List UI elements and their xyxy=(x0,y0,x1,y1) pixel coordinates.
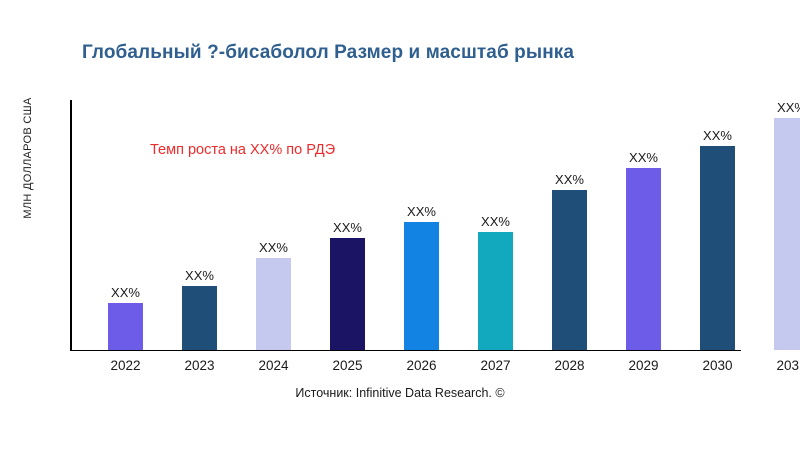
bar-2031[interactable] xyxy=(774,118,800,350)
bar-group[interactable]: XX% xyxy=(182,264,217,350)
bar-2023[interactable] xyxy=(182,286,217,350)
bar-2028[interactable] xyxy=(552,190,587,350)
x-tick-2029: 2029 xyxy=(614,358,674,373)
bar-group[interactable]: XX% xyxy=(552,168,587,350)
y-axis-label: МЛН ДОЛЛАРОВ США xyxy=(22,68,34,248)
bar-group[interactable]: XX% xyxy=(256,236,291,350)
x-tick-2023: 2023 xyxy=(170,358,230,373)
bar-value-label-2028: XX% xyxy=(555,172,584,187)
bar-2030[interactable] xyxy=(700,146,735,350)
bar-group[interactable]: XX% xyxy=(774,96,800,350)
x-tick-2025: 2025 xyxy=(318,358,378,373)
plot-area: XX%XX%XX%XX%XX%XX%XX%XX%XX%XX% xyxy=(70,100,800,351)
bar-value-label-2023: XX% xyxy=(185,268,214,283)
bar-value-label-2030: XX% xyxy=(703,128,732,143)
source-note: Источник: Infinitive Data Research. © xyxy=(0,386,800,400)
bar-2025[interactable] xyxy=(330,238,365,350)
bar-group[interactable]: XX% xyxy=(700,124,735,350)
bar-group[interactable]: XX% xyxy=(478,210,513,350)
bar-group[interactable]: XX% xyxy=(404,200,439,350)
bar-group[interactable]: XX% xyxy=(626,146,661,350)
bar-value-label-2022: XX% xyxy=(111,285,140,300)
x-tick-2024: 2024 xyxy=(244,358,304,373)
bar-2024[interactable] xyxy=(256,258,291,350)
bar-2027[interactable] xyxy=(478,232,513,350)
bar-value-label-2031: XX% xyxy=(777,100,800,115)
x-tick-2031: 2031 xyxy=(762,358,800,373)
x-tick-2030: 2030 xyxy=(688,358,748,373)
bar-group[interactable]: XX% xyxy=(330,216,365,350)
x-tick-2026: 2026 xyxy=(392,358,452,373)
bar-value-label-2024: XX% xyxy=(259,240,288,255)
bar-value-label-2025: XX% xyxy=(333,220,362,235)
chart-container: Глобальный ?-бисаболол Размер и масштаб … xyxy=(0,0,800,450)
bar-value-label-2029: XX% xyxy=(629,150,658,165)
x-axis-line xyxy=(70,350,741,352)
bar-group[interactable]: XX% xyxy=(108,281,143,350)
chart-title: Глобальный ?-бисаболол Размер и масштаб … xyxy=(82,42,574,64)
y-axis-line xyxy=(70,100,72,351)
bar-value-label-2027: XX% xyxy=(481,214,510,229)
bar-2022[interactable] xyxy=(108,303,143,350)
x-tick-2027: 2027 xyxy=(466,358,526,373)
x-tick-2022: 2022 xyxy=(96,358,156,373)
bar-2026[interactable] xyxy=(404,222,439,350)
bar-value-label-2026: XX% xyxy=(407,204,436,219)
bar-2029[interactable] xyxy=(626,168,661,350)
x-tick-2028: 2028 xyxy=(540,358,600,373)
